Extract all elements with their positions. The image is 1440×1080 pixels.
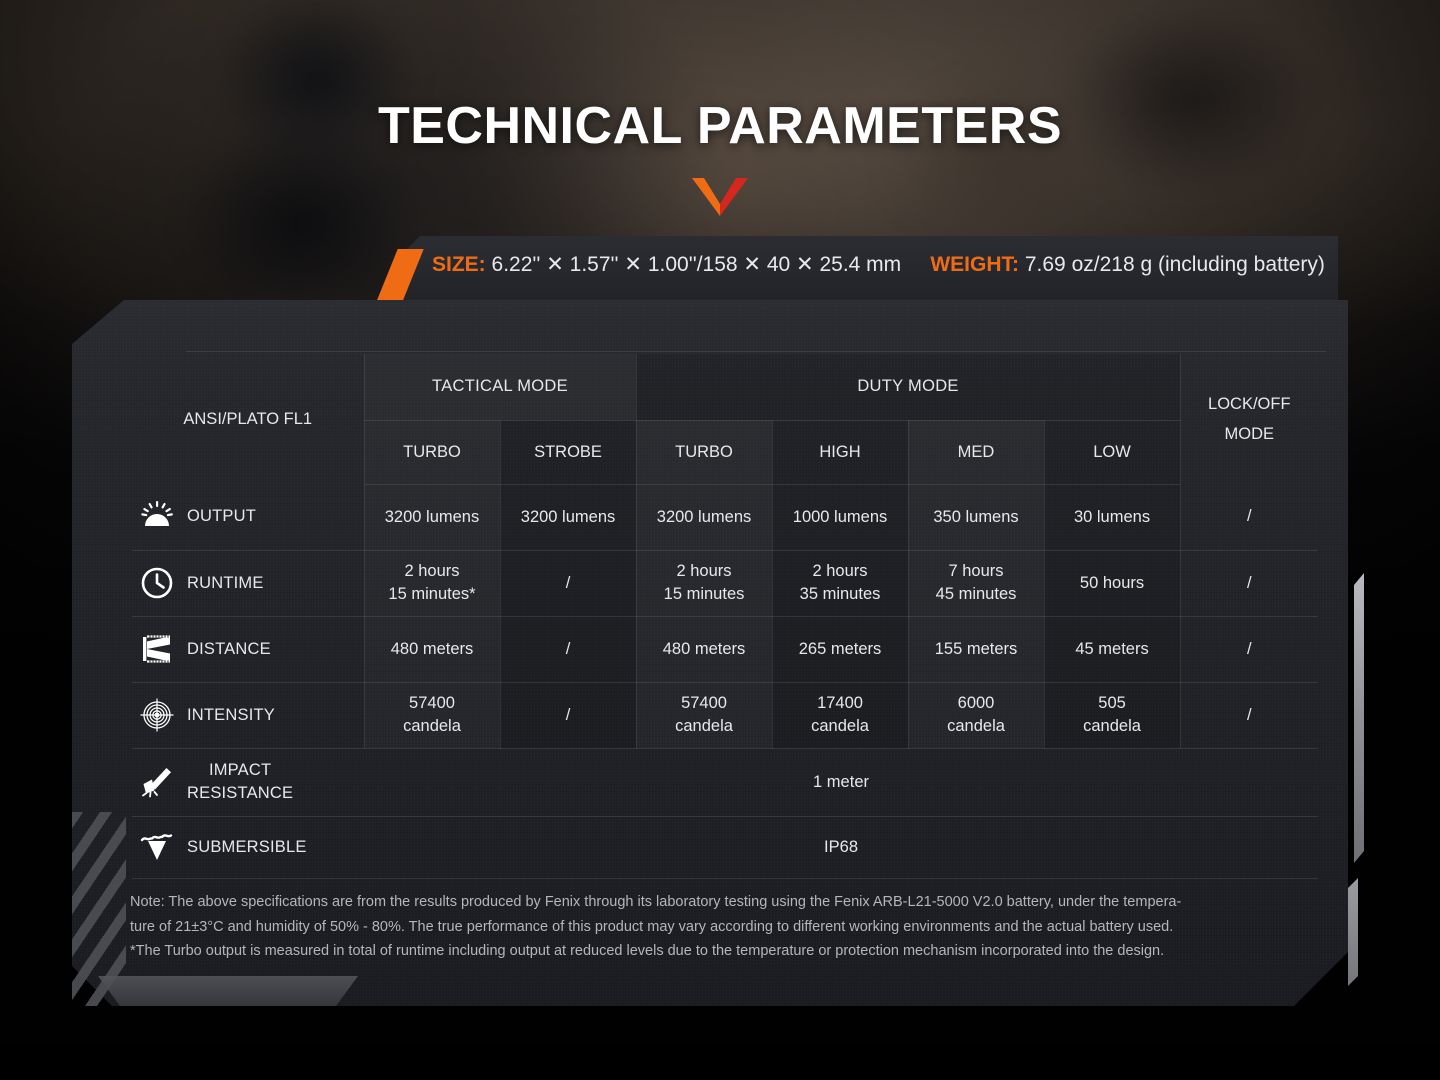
clock-icon bbox=[140, 566, 174, 600]
row-label-runtime: RUNTIME bbox=[132, 550, 364, 616]
sunburst-icon bbox=[140, 500, 174, 534]
cell-intensity-high: 17400 candela bbox=[772, 682, 908, 748]
footer-note-line-2: ture of 21±3°C and humidity of 50% - 80%… bbox=[130, 915, 1340, 940]
cell-intensity-lockoff: / bbox=[1180, 682, 1318, 748]
cell-runtime-turbo-duty: 2 hours 15 minutes bbox=[636, 550, 772, 616]
specifications-table: ANSI/PLATO FL1 TACTICAL MODE DUTY MODE L… bbox=[132, 354, 1318, 879]
page-title: TECHNICAL PARAMETERS bbox=[0, 96, 1440, 156]
mode-header-turbo-tactical: TURBO bbox=[364, 420, 500, 484]
group-header-tactical: TACTICAL MODE bbox=[364, 354, 636, 420]
cell-output-lockoff: / bbox=[1180, 484, 1318, 550]
mode-header-med: MED bbox=[908, 420, 1044, 484]
cell-output-turbo-duty: 3200 lumens bbox=[636, 484, 772, 550]
row-label-text: DISTANCE bbox=[187, 638, 271, 661]
footer-notes: Note: The above specifications are from … bbox=[130, 890, 1340, 964]
cell-submersible-value: IP68 bbox=[364, 816, 1318, 878]
table-row: OUTPUT 3200 lumens 3200 lumens 3200 lume… bbox=[132, 484, 1318, 550]
table-row: IMPACT RESISTANCE 1 meter bbox=[132, 748, 1318, 816]
row-label-text: SUBMERSIBLE bbox=[187, 836, 307, 859]
cell-runtime-low: 50 hours bbox=[1044, 550, 1180, 616]
row-label-intensity: INTENSITY bbox=[132, 682, 364, 748]
cell-runtime-lockoff: / bbox=[1180, 550, 1318, 616]
cell-distance-low: 45 meters bbox=[1044, 616, 1180, 682]
table-row: RUNTIME 2 hours 15 minutes* / 2 hours 15… bbox=[132, 550, 1318, 616]
panel-right-accent-strip bbox=[1354, 573, 1364, 863]
cell-output-turbo-tactical: 3200 lumens bbox=[364, 484, 500, 550]
cell-runtime-med: 7 hours 45 minutes bbox=[908, 550, 1044, 616]
cell-output-low: 30 lumens bbox=[1044, 484, 1180, 550]
size-weight-line: SIZE: 6.22'' ✕ 1.57'' ✕ 1.00''/158 ✕ 40 … bbox=[432, 252, 1332, 286]
row-label-text: IMPACT RESISTANCE bbox=[187, 759, 293, 805]
mode-header-strobe: STROBE bbox=[500, 420, 636, 484]
cell-runtime-high: 2 hours 35 minutes bbox=[772, 550, 908, 616]
submersible-icon bbox=[140, 830, 174, 864]
row-label-distance: DISTANCE bbox=[132, 616, 364, 682]
cell-impact-resistance-value: 1 meter bbox=[364, 748, 1318, 816]
cell-intensity-turbo-duty: 57400 candela bbox=[636, 682, 772, 748]
cell-distance-turbo-tactical: 480 meters bbox=[364, 616, 500, 682]
row-label-text: OUTPUT bbox=[187, 505, 256, 528]
table-group-header-row: ANSI/PLATO FL1 TACTICAL MODE DUTY MODE L… bbox=[132, 354, 1318, 420]
row-label-text: RUNTIME bbox=[187, 572, 264, 595]
cell-output-high: 1000 lumens bbox=[772, 484, 908, 550]
group-header-duty: DUTY MODE bbox=[636, 354, 1180, 420]
group-header-lockoff: LOCK/OFF MODE bbox=[1180, 354, 1318, 484]
cell-output-strobe: 3200 lumens bbox=[500, 484, 636, 550]
beam-ruler-icon bbox=[140, 632, 174, 666]
cell-distance-turbo-duty: 480 meters bbox=[636, 616, 772, 682]
panel-inner-hairline bbox=[186, 351, 1326, 352]
footer-note-line-3: *The Turbo output is measured in total o… bbox=[130, 939, 1340, 964]
cell-distance-high: 265 meters bbox=[772, 616, 908, 682]
table-row: INTENSITY 57400 candela / 57400 candela … bbox=[132, 682, 1318, 748]
table-row: DISTANCE 480 meters / 480 meters 265 met… bbox=[132, 616, 1318, 682]
cell-intensity-turbo-tactical: 57400 candela bbox=[364, 682, 500, 748]
size-label: SIZE: bbox=[432, 253, 486, 276]
cell-distance-strobe: / bbox=[500, 616, 636, 682]
row-label-submersible: SUBMERSIBLE bbox=[132, 816, 364, 878]
cell-intensity-strobe: / bbox=[500, 682, 636, 748]
impact-icon bbox=[140, 765, 174, 799]
cell-output-med: 350 lumens bbox=[908, 484, 1044, 550]
mode-header-turbo-duty: TURBO bbox=[636, 420, 772, 484]
lockoff-line-1: LOCK/OFF bbox=[1181, 389, 1319, 419]
weight-value: 7.69 oz/218 g (including battery) bbox=[1025, 253, 1325, 276]
weight-label: WEIGHT: bbox=[930, 253, 1019, 276]
size-value: 6.22'' ✕ 1.57'' ✕ 1.00''/158 ✕ 40 ✕ 25.4… bbox=[492, 253, 902, 276]
table-corner-label: ANSI/PLATO FL1 bbox=[132, 354, 364, 484]
chevron-down-icon bbox=[692, 176, 748, 216]
cell-intensity-low: 505 candela bbox=[1044, 682, 1180, 748]
lockoff-line-2: MODE bbox=[1181, 419, 1319, 449]
cell-intensity-med: 6000 candela bbox=[908, 682, 1044, 748]
table-row: SUBMERSIBLE IP68 bbox=[132, 816, 1318, 878]
mode-header-high: HIGH bbox=[772, 420, 908, 484]
row-label-output: OUTPUT bbox=[132, 484, 364, 550]
row-label-impact-resistance: IMPACT RESISTANCE bbox=[132, 748, 364, 816]
mode-header-low: LOW bbox=[1044, 420, 1180, 484]
row-label-text: INTENSITY bbox=[187, 704, 275, 727]
target-icon bbox=[140, 698, 174, 732]
cell-distance-lockoff: / bbox=[1180, 616, 1318, 682]
cell-runtime-turbo-tactical: 2 hours 15 minutes* bbox=[364, 550, 500, 616]
panel-right-accent-strip-lower bbox=[1348, 878, 1358, 986]
panel-foot-plate bbox=[98, 976, 358, 1006]
footer-note-line-1: Note: The above specifications are from … bbox=[130, 890, 1340, 915]
cell-distance-med: 155 meters bbox=[908, 616, 1044, 682]
cell-runtime-strobe: / bbox=[500, 550, 636, 616]
